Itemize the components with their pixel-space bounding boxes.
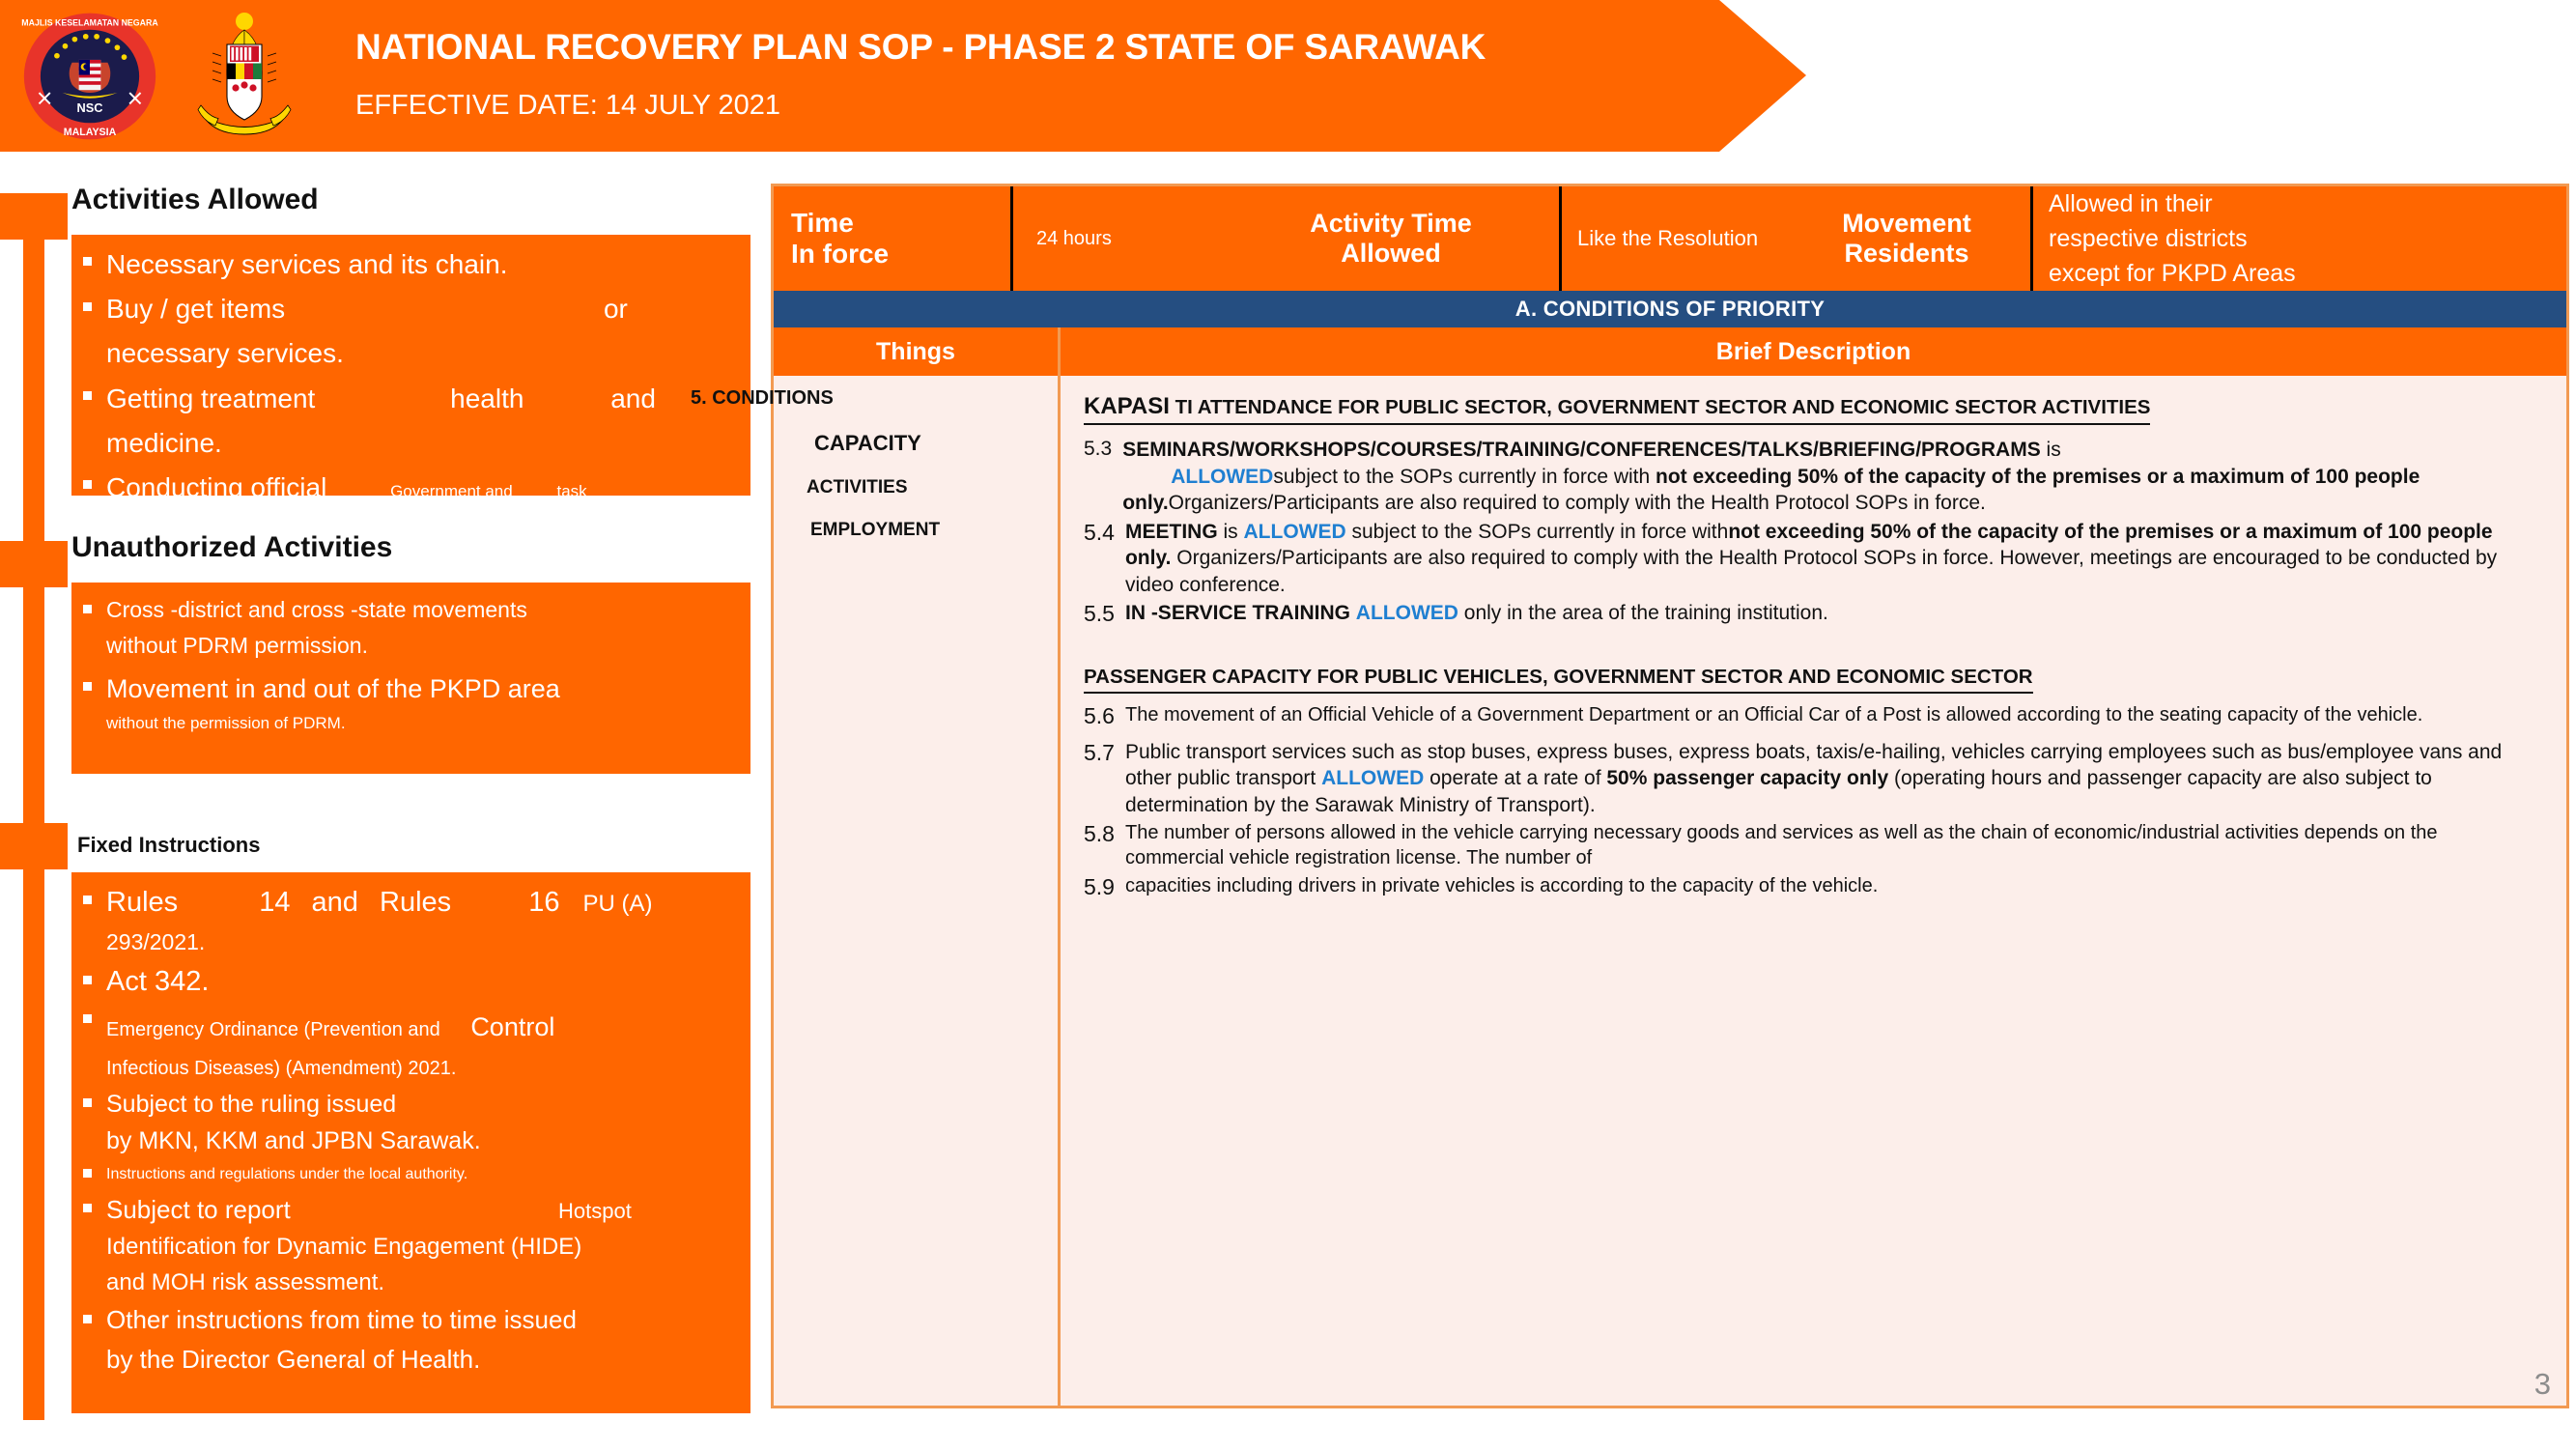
bullet-text: Subject to the ruling issued: [106, 1086, 750, 1123]
item-span: is: [2041, 439, 2061, 461]
list-item: Necessary services and its chain.: [71, 242, 750, 287]
item-text: Public transport services such as stop b…: [1125, 739, 2541, 819]
bullet-text: Conducting official: [106, 466, 326, 510]
bullet-text: Necessary services and its chain.: [106, 242, 508, 287]
header-cell-time-in-force: Time In force: [774, 186, 1013, 291]
bullet-text-2: 14: [259, 880, 290, 924]
bullet-text: Cross -district and cross -state movemen…: [106, 592, 750, 628]
section-a-heading: KAPASI TI ATTENDANCE FOR PUBLIC SECTOR, …: [1084, 391, 2150, 425]
list-item: Subject to report Hotspot Identification…: [71, 1190, 750, 1301]
header-line: Time: [791, 208, 889, 239]
item-number: 5.8: [1084, 820, 1125, 870]
header-line: Allowed: [1310, 239, 1472, 269]
bullet-text-6: PU (A): [583, 886, 653, 923]
header-line: Movement: [1842, 209, 1971, 239]
list-item: Instructions and regulations under the l…: [71, 1160, 750, 1189]
svg-text:NSC: NSC: [77, 100, 103, 115]
list-item: Movement in and out of the PKPD area wit…: [71, 668, 750, 736]
table-subheader-row: Things Brief Description: [774, 327, 2566, 376]
item-allowed-tag: ALLOWED: [1321, 767, 1424, 789]
bullet-text: Act 342.: [106, 960, 209, 1004]
section-b-heading: PASSENGER CAPACITY FOR PUBLIC VEHICLES, …: [1084, 665, 2033, 695]
bullet-text: Buy / get items: [106, 287, 285, 331]
item-text: IN -SERVICE TRAINING ALLOWED only in the…: [1125, 600, 2541, 628]
bullet-text: Instructions and regulations under the l…: [106, 1160, 467, 1189]
header-line: except for PKPD Areas: [2049, 256, 2296, 291]
item-text: The movement of an Official Vehicle of a…: [1125, 702, 2541, 730]
brief-description-column: KAPASI TI ATTENDANCE FOR PUBLIC SECTOR, …: [1061, 376, 2566, 1406]
bullet-text-2: by MKN, KKM and JPBN Sarawak.: [106, 1123, 750, 1160]
header-line: Activity Time: [1310, 209, 1472, 239]
item-number: 5.6: [1084, 702, 1125, 730]
bullet-text-2: health: [450, 377, 524, 421]
nsc-malaysia-emblem-icon: NSC MAJLIS KESELAMATAN NEGARA MALAYSIA: [17, 8, 162, 145]
bullet-text-2: Government and: [390, 478, 513, 505]
left-spine-bar: [23, 193, 44, 1420]
header-line: 24 hours: [1036, 228, 1112, 250]
bullet-text-4: medicine.: [106, 421, 750, 466]
item-number: 5.5: [1084, 600, 1125, 628]
things-column: 5. CONDITIONS CAPACITY ACTIVITIES EMPLOY…: [774, 376, 1061, 1406]
item-span: only in the area of the training institu…: [1458, 602, 1828, 624]
bullet-text: Getting treatment: [106, 377, 315, 421]
item-text: SEMINARS/WORKSHOPS/COURSES/TRAINING/CONF…: [1122, 437, 2541, 517]
bullet-text-2: by the Director General of Health.: [106, 1340, 750, 1379]
bullet-text: Movement in and out of the PKPD area: [106, 668, 750, 710]
things-item-employment: EMPLOYMENT: [774, 520, 1058, 541]
description-item-5-5: 5.5 IN -SERVICE TRAINING ALLOWED only in…: [1084, 600, 2541, 628]
things-item-conditions: 5. CONDITIONS: [691, 387, 1058, 410]
bullet-text-2: without PDRM permission.: [106, 628, 750, 664]
activities-allowed-title: Activities Allowed: [71, 184, 319, 216]
list-item: Cross -district and cross -state movemen…: [71, 592, 750, 665]
list-item: Other instructions from time to time iss…: [71, 1300, 750, 1379]
item-text: The number of persons allowed in the veh…: [1125, 820, 2541, 870]
heading-part-2: TI ATTENDANCE FOR PUBLIC SECTOR, GOVERNM…: [1175, 396, 2151, 418]
bullet-text-4: and MOH risk assessment.: [106, 1265, 750, 1300]
unauthorized-activities-box: Cross -district and cross -state movemen…: [71, 583, 750, 774]
bullet-text-4: Rules: [380, 880, 451, 924]
item-span: Organizers/Participants are also require…: [1169, 492, 1986, 514]
spine-tab-3: [0, 823, 68, 869]
item-span: 50% passenger capacity only: [1606, 767, 1888, 789]
svg-text:MALAYSIA: MALAYSIA: [64, 127, 117, 138]
activities-allowed-list: Necessary services and its chain. Buy / …: [71, 235, 750, 554]
table-header-row: Time In force 24 hours Activity Time All…: [774, 186, 2566, 291]
list-item: Subject to the ruling issued by MKN, KKM…: [71, 1086, 750, 1161]
heading-part-1: KAPASI: [1084, 393, 1170, 419]
item-number: 5.9: [1084, 873, 1125, 901]
bullet-text-3: and: [610, 377, 656, 421]
list-item: Getting treatment health and medicine.: [71, 377, 750, 466]
things-item-activities: ACTIVITIES: [774, 477, 1058, 498]
effective-date: EFFECTIVE DATE: 14 JULY 2021: [355, 90, 780, 122]
bullet-text: Emergency Ordinance (Prevention and: [106, 1012, 440, 1047]
svg-text:MAJLIS KESELAMATAN NEGARA: MAJLIS KESELAMATAN NEGARA: [21, 17, 158, 27]
bullet-text-3: and: [312, 880, 358, 924]
unauthorized-activities-list: Cross -district and cross -state movemen…: [71, 583, 750, 736]
header-cell-hours: 24 hours: [1013, 186, 1220, 291]
header-cell-activity-time-allowed: Activity Time Allowed: [1220, 186, 1562, 291]
bullet-text-7: 293/2021.: [106, 924, 750, 960]
description-item-5-4: 5.4 MEETING is ALLOWED subject to the SO…: [1084, 519, 2541, 599]
bullet-text-5: 16: [528, 880, 559, 924]
spine-tab-1: [0, 193, 68, 240]
subheader-brief-description: Brief Description: [1061, 327, 2566, 376]
things-item-capacity: CAPACITY: [774, 431, 1058, 456]
bullet-text: Subject to report: [106, 1190, 291, 1229]
item-text: MEETING is ALLOWED subject to the SOPs c…: [1125, 519, 2541, 599]
description-item-5-3: 5.3 SEMINARS/WORKSHOPS/COURSES/TRAINING/…: [1084, 437, 2541, 517]
item-span: subject to the SOPs currently in force w…: [1346, 521, 1729, 543]
header-line: In force: [791, 239, 889, 270]
item-number: 5.3: [1084, 437, 1122, 517]
list-item: Emergency Ordinance (Prevention and Cont…: [71, 1004, 750, 1086]
conditions-of-priority-bar: A. CONDITIONS OF PRIORITY: [774, 291, 2566, 327]
bullet-text-2: Hotspot: [558, 1195, 632, 1228]
bullet-text-2: Control: [470, 1004, 554, 1051]
page-title: NATIONAL RECOVERY PLAN SOP - PHASE 2 STA…: [355, 27, 1486, 68]
sop-conditions-table: Time In force 24 hours Activity Time All…: [771, 184, 2569, 1408]
header-line: Like the Resolution: [1577, 226, 1758, 251]
bullet-text: Other instructions from time to time iss…: [106, 1300, 750, 1339]
description-item-5-7: 5.7 Public transport services such as st…: [1084, 739, 2541, 819]
list-item: Rules 14 and Rules 16 PU (A) 293/2021.: [71, 880, 750, 960]
header-line: respective districts: [2049, 221, 2296, 256]
bullet-text-3: Infectious Diseases) (Amendment) 2021.: [106, 1051, 750, 1086]
page-header: NSC MAJLIS KESELAMATAN NEGARA MALAYSIA: [0, 0, 1806, 152]
item-span: MEETING: [1125, 521, 1218, 543]
item-span: IN -SERVICE TRAINING: [1125, 602, 1350, 624]
bullet-text-2: or: [604, 287, 628, 331]
header-cell-allowed-districts: Allowed in their respective districts ex…: [2033, 186, 2566, 291]
item-span: subject to the SOPs currently in force w…: [1273, 466, 1656, 488]
header-cell-movement-residents: Movement Residents: [1780, 186, 2033, 291]
item-number: 5.4: [1084, 519, 1125, 599]
description-item-5-6: 5.6 The movement of an Official Vehicle …: [1084, 702, 2541, 730]
list-item: Act 342.: [71, 960, 750, 1004]
item-span: is: [1218, 521, 1244, 543]
activities-allowed-box: Necessary services and its chain. Buy / …: [71, 235, 750, 496]
description-item-5-9: 5.9 capacities including drivers in priv…: [1084, 873, 2541, 901]
item-allowed-tag: ALLOWED: [1171, 466, 1273, 488]
item-span: operate at a rate of: [1424, 767, 1606, 789]
list-item: Buy / get items or necessary services.: [71, 287, 750, 376]
header-cell-like-the-resolution: Like the Resolution: [1562, 186, 1780, 291]
fixed-instructions-box: Rules 14 and Rules 16 PU (A) 293/2021. A…: [71, 872, 750, 1413]
header-line: Residents: [1842, 239, 1971, 269]
page-number: 3: [2534, 1367, 2551, 1402]
item-number: 5.7: [1084, 739, 1125, 819]
item-text: capacities including drivers in private …: [1125, 873, 2541, 901]
bullet-text: Rules: [106, 880, 178, 924]
bullet-text-3: necessary services.: [106, 331, 750, 376]
bullet-text-2: without the permission of PDRM.: [106, 710, 750, 736]
item-span: Organizers/Participants are also require…: [1125, 547, 2497, 596]
unauthorized-activities-title: Unauthorized Activities: [71, 531, 392, 564]
item-allowed-tag: ALLOWED: [1244, 521, 1346, 543]
malaysia-coat-of-arms-icon: [172, 4, 317, 149]
fixed-instructions-title: Fixed Instructions: [77, 833, 260, 858]
spine-tab-2: [0, 541, 68, 587]
table-body-row: 5. CONDITIONS CAPACITY ACTIVITIES EMPLOY…: [774, 376, 2566, 1406]
subheader-things: Things: [774, 327, 1061, 376]
bullet-text-3: task: [557, 478, 587, 505]
item-span: SEMINARS/WORKSHOPS/COURSES/TRAINING/CONF…: [1122, 439, 2041, 461]
description-item-5-8: 5.8 The number of persons allowed in the…: [1084, 820, 2541, 870]
fixed-instructions-list: Rules 14 and Rules 16 PU (A) 293/2021. A…: [71, 872, 750, 1379]
item-allowed-tag: ALLOWED: [1356, 602, 1458, 624]
bullet-text-3: Identification for Dynamic Engagement (H…: [106, 1229, 750, 1265]
header-line: Allowed in their: [2049, 186, 2296, 221]
